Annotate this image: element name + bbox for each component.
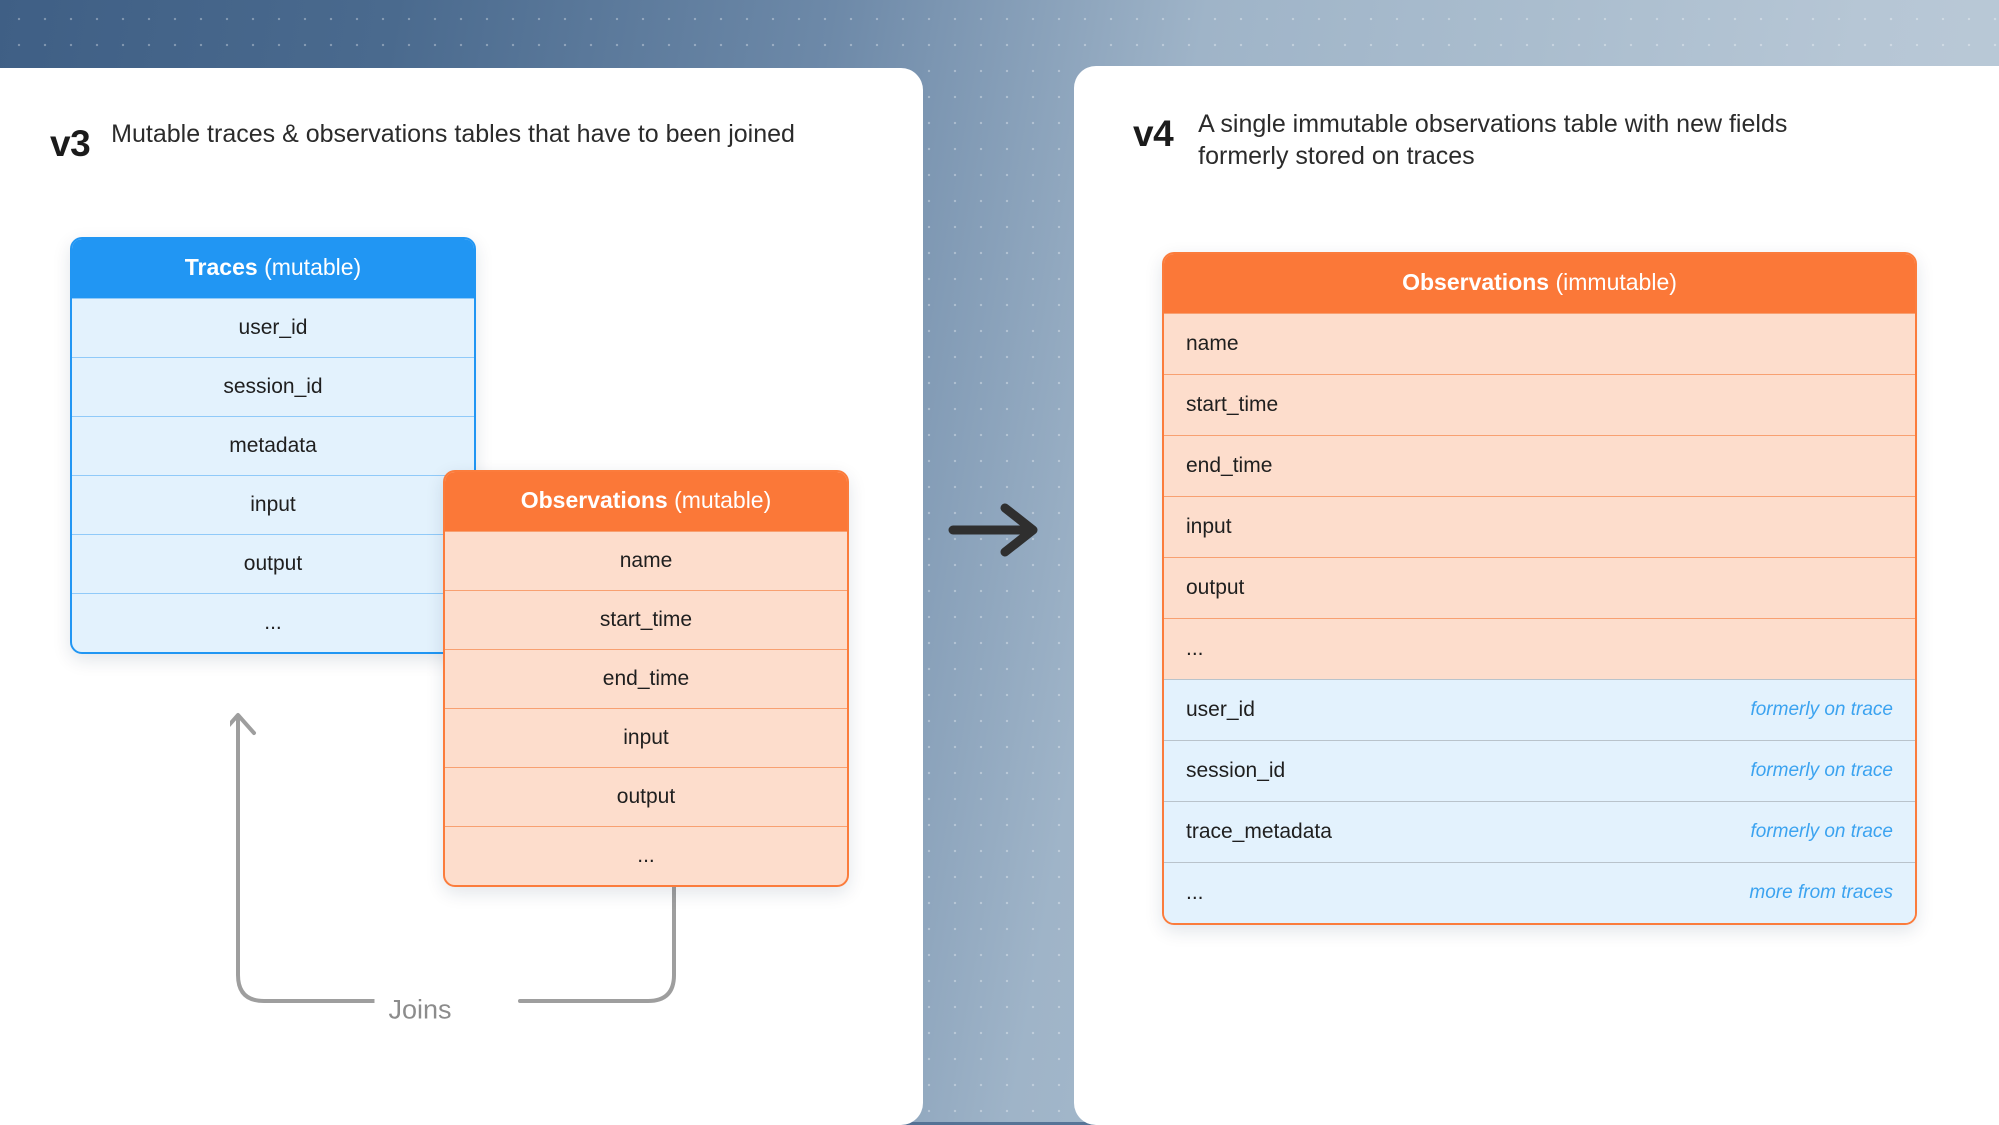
table-observations-immutable-title: Observations <box>1402 269 1549 295</box>
table-observations-immutable-header: Observations (immutable) <box>1164 254 1915 313</box>
table-traces: Traces (mutable) user_id session_id meta… <box>70 237 476 654</box>
table-row: input <box>72 475 474 534</box>
field-name: trace_metadata <box>1186 820 1332 844</box>
version-label-v4: v4 <box>1133 108 1173 152</box>
table-observations-mutable-mutability: (mutable) <box>674 487 771 513</box>
table-row: ... <box>72 593 474 652</box>
table-row: trace_metadata formerly on trace <box>1164 801 1915 862</box>
joins-label: Joins <box>374 995 465 1026</box>
table-row: output <box>445 767 847 826</box>
table-observations-immutable-mutability: (immutable) <box>1555 269 1676 295</box>
table-observations-mutable: Observations (mutable) name start_time e… <box>443 470 849 887</box>
table-row: end_time <box>445 649 847 708</box>
section-description-v4: A single immutable observations table wi… <box>1198 108 1833 172</box>
table-row: ... <box>1164 618 1915 679</box>
field-note: formerly on trace <box>1750 699 1893 721</box>
field-note: formerly on trace <box>1750 821 1893 843</box>
field-note: more from traces <box>1749 882 1893 904</box>
field-name: start_time <box>1186 393 1278 417</box>
table-row: session_id formerly on trace <box>1164 740 1915 801</box>
table-row: start_time <box>445 590 847 649</box>
field-name: input <box>1186 515 1232 539</box>
table-row: metadata <box>72 416 474 475</box>
field-name: ... <box>1186 637 1204 661</box>
field-name: ... <box>1186 881 1204 905</box>
table-row: input <box>445 708 847 767</box>
table-row: output <box>72 534 474 593</box>
table-row: user_id <box>72 298 474 357</box>
field-name: name <box>1186 332 1239 356</box>
field-note: formerly on trace <box>1750 760 1893 782</box>
field-name: session_id <box>1186 759 1285 783</box>
table-row: output <box>1164 557 1915 618</box>
field-name: end_time <box>1186 454 1272 478</box>
table-observations-mutable-title: Observations <box>521 487 668 513</box>
table-traces-title: Traces <box>185 254 258 280</box>
table-row: start_time <box>1164 374 1915 435</box>
field-name: user_id <box>1186 698 1255 722</box>
table-row: end_time <box>1164 435 1915 496</box>
table-row: input <box>1164 496 1915 557</box>
table-observations-mutable-header: Observations (mutable) <box>445 472 847 531</box>
table-row: ... <box>445 826 847 885</box>
table-row: name <box>445 531 847 590</box>
table-row: user_id formerly on trace <box>1164 679 1915 740</box>
field-name: output <box>1186 576 1244 600</box>
table-traces-mutability: (mutable) <box>264 254 361 280</box>
section-header-v3: v3 Mutable traces & observations tables … <box>50 118 870 162</box>
section-description-v3: Mutable traces & observations tables tha… <box>111 118 795 150</box>
table-row: session_id <box>72 357 474 416</box>
table-observations-immutable: Observations (immutable) name start_time… <box>1162 252 1917 925</box>
table-row: ... more from traces <box>1164 862 1915 923</box>
table-row: name <box>1164 313 1915 374</box>
section-header-v4: v4 A single immutable observations table… <box>1133 108 1833 172</box>
table-traces-header: Traces (mutable) <box>72 239 474 298</box>
arrow-right-icon <box>945 500 1055 560</box>
version-label-v3: v3 <box>50 118 90 162</box>
